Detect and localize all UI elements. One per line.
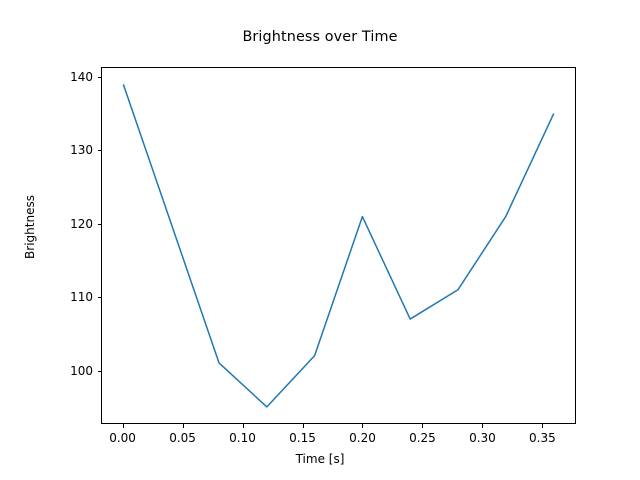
- y-tick-mark: [98, 371, 102, 372]
- x-tick-mark: [183, 424, 184, 428]
- x-axis-label: Time [s]: [0, 452, 640, 466]
- y-tick-label: 130: [60, 143, 93, 157]
- y-tick-label: 140: [60, 70, 93, 84]
- x-tick-mark: [422, 424, 423, 428]
- y-tick-label: 110: [60, 290, 93, 304]
- chart-title: Brightness over Time: [0, 29, 640, 45]
- plot-axes-area: [101, 67, 576, 424]
- y-axis-label: Brightness: [23, 167, 37, 287]
- figure-canvas: Brightness over Time Brightness Time [s]…: [0, 0, 640, 480]
- y-tick-mark: [98, 77, 102, 78]
- x-tick-label: 0.25: [409, 431, 436, 445]
- y-tick-label: 120: [60, 217, 93, 231]
- x-tick-mark: [243, 424, 244, 428]
- x-tick-label: 0.15: [289, 431, 316, 445]
- y-tick-mark: [98, 224, 102, 225]
- y-tick-mark: [98, 150, 102, 151]
- y-tick-mark: [98, 297, 102, 298]
- x-tick-mark: [542, 424, 543, 428]
- x-tick-label: 0.00: [109, 431, 136, 445]
- x-tick-mark: [362, 424, 363, 428]
- line-plot: [102, 68, 575, 423]
- x-tick-label: 0.35: [529, 431, 556, 445]
- x-tick-label: 0.30: [469, 431, 496, 445]
- x-tick-label: 0.20: [349, 431, 376, 445]
- x-tick-mark: [123, 424, 124, 428]
- brightness-line-series: [123, 85, 553, 407]
- x-tick-mark: [303, 424, 304, 428]
- x-tick-label: 0.10: [229, 431, 256, 445]
- y-tick-label: 100: [60, 364, 93, 378]
- x-tick-label: 0.05: [169, 431, 196, 445]
- x-tick-mark: [482, 424, 483, 428]
